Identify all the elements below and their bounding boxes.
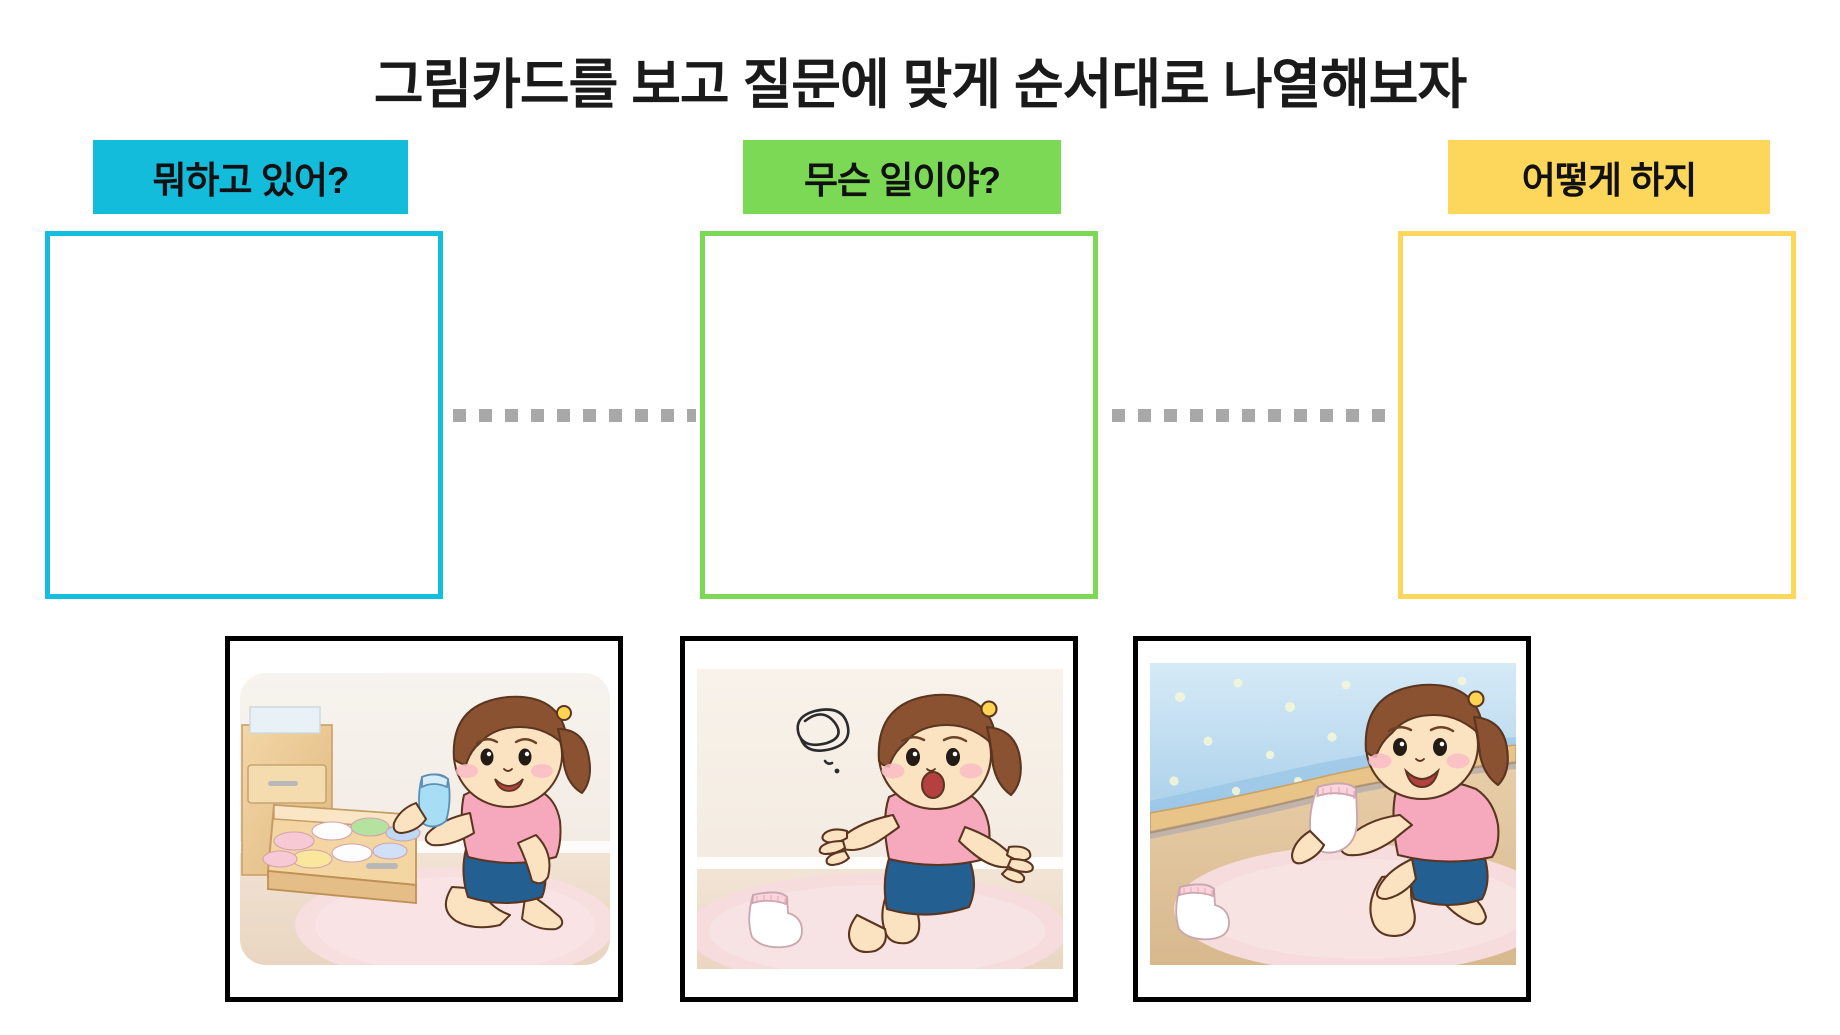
dotted-connector-2 (1112, 409, 1392, 422)
scene-girl-taking-sock-from-drawer (240, 673, 610, 965)
question-label-1-text: 뭐하고 있어? (152, 150, 348, 204)
scene-girl-finding-sock-under-bed (1150, 663, 1516, 965)
picture-card-2[interactable] (680, 636, 1078, 1002)
question-label-2: 무슨 일이야? (743, 140, 1061, 214)
question-label-2-text: 무슨 일이야? (804, 150, 1000, 204)
answer-box-3[interactable] (1398, 231, 1796, 599)
question-label-1: 뭐하고 있어? (93, 140, 408, 214)
answer-box-1[interactable] (45, 231, 443, 599)
card-1-illustration (240, 673, 610, 965)
picture-card-3[interactable] (1133, 636, 1531, 1002)
card-3-illustration (1150, 663, 1516, 965)
question-label-3: 어떻게 하지 (1448, 140, 1770, 214)
worksheet-canvas: 그림카드를 보고 질문에 맞게 순서대로 나열해보자 뭐하고 있어? 무슨 일이… (0, 0, 1840, 1035)
scene-girl-surprised-one-sock-missing (697, 669, 1063, 969)
answer-box-2[interactable] (700, 231, 1098, 599)
card-2-illustration (697, 669, 1063, 969)
picture-card-1[interactable] (225, 636, 623, 1002)
question-label-3-text: 어떻게 하지 (1522, 150, 1696, 204)
page-title: 그림카드를 보고 질문에 맞게 순서대로 나열해보자 (0, 40, 1840, 119)
dotted-connector-1 (453, 409, 696, 422)
